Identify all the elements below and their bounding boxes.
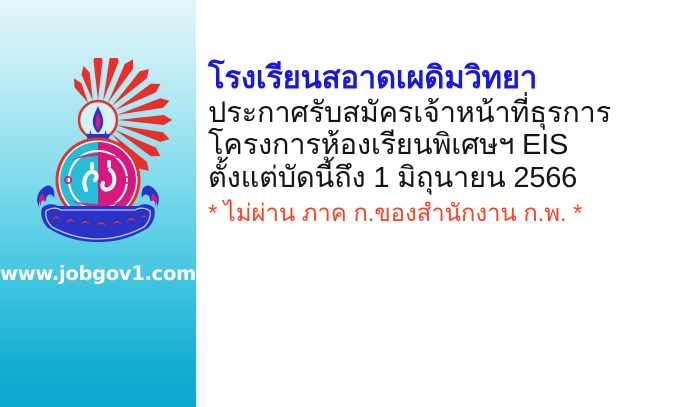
website-url: www.jobgov1.com [0, 262, 196, 285]
school-name-heading: โรงเรียนสอาดเผดิมวิทยา [208, 62, 684, 94]
ribbon-banner [41, 204, 155, 242]
announcement-text-block: โรงเรียนสอาดเผดิมวิทยา ประกาศรับสมัครเจ้… [208, 62, 684, 227]
right-content-panel: โรงเรียนสอาดเผดิมวิทยา ประกาศรับสมัครเจ้… [196, 0, 696, 407]
announcement-banner: www.jobgov1.com โรงเรียนสอาดเผดิมวิทยา ป… [0, 0, 696, 407]
left-gradient-panel: www.jobgov1.com [0, 0, 196, 407]
announcement-deadline: ตั้งแต่บัดนี้ถึง 1 มิถุนายน 2566 [208, 163, 684, 193]
announcement-note: * ไม่ผ่าน ภาค ก.ของสำนักงาน ก.พ. * [208, 202, 684, 227]
school-emblem-logo [12, 58, 184, 248]
announcement-line-2: โครงการห้องเรียนพิเศษฯ EIS [208, 130, 684, 160]
announcement-line-1: ประกาศรับสมัครเจ้าหน้าที่ธุรการ [208, 98, 684, 128]
school-emblem-svg [12, 58, 184, 248]
